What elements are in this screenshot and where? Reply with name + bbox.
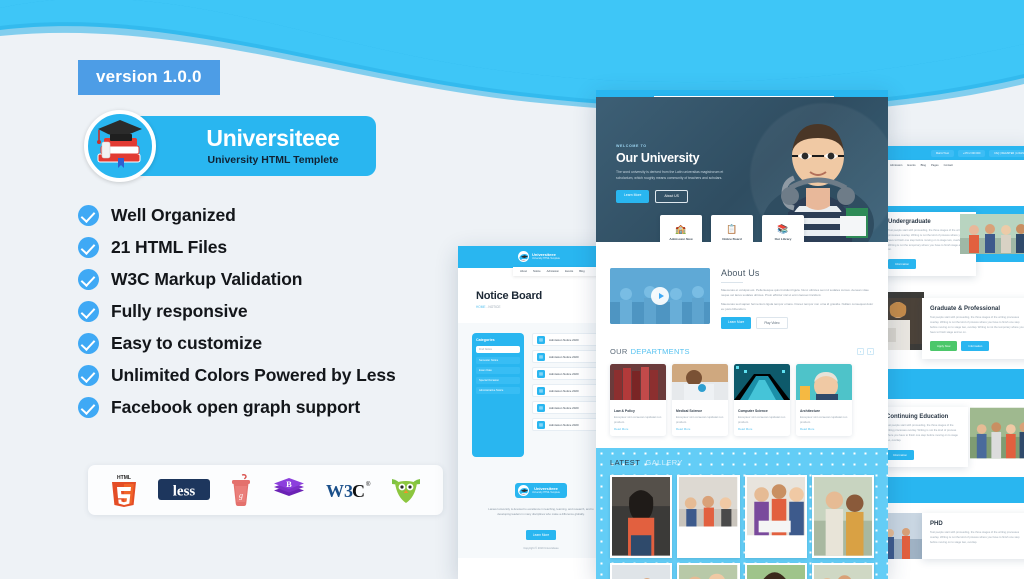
topbar-chip-mail[interactable]: Mail A Trust xyxy=(931,150,954,157)
department-card[interactable]: Architecture Excepteur sint occaecat cup… xyxy=(796,364,852,436)
notice-title: Admission Notice 2020 xyxy=(549,389,579,393)
document-icon: ▤ xyxy=(537,353,545,361)
about-play-video-button[interactable]: Play Video xyxy=(756,317,787,329)
gallery-item[interactable] xyxy=(812,563,874,579)
check-circle-icon xyxy=(78,397,99,418)
hero-about-button[interactable]: About US xyxy=(655,190,688,203)
brand-pill: Universiteee University HTML Templete xyxy=(128,116,376,176)
feature-item: Well Organized xyxy=(78,205,498,226)
notice-title: Admission Notice 2020 xyxy=(549,406,579,410)
right-nav-item[interactable]: Blog xyxy=(921,164,926,167)
notice-title: Admission Notice 2020 xyxy=(549,355,579,359)
quick-card-label: Admission Now xyxy=(669,237,692,241)
notice-nav-item[interactable]: Admission xyxy=(547,270,559,273)
department-name: Computer Science xyxy=(738,409,786,413)
footer-learn-more-button[interactable]: Learn More xyxy=(526,530,556,540)
feature-item: Easy to customize xyxy=(78,333,498,354)
programs-page-mockup[interactable]: Mail A Trust +470 2 000 000 FAQ | REGIST… xyxy=(884,146,1024,579)
brand-circle-icon xyxy=(518,485,529,496)
information-button[interactable]: Information xyxy=(886,450,914,460)
document-icon: ▤ xyxy=(537,404,545,412)
quick-card-library[interactable]: 📚 Our Library xyxy=(762,215,804,242)
gallery-item[interactable] xyxy=(677,475,739,558)
technology-strip: HTML less g xyxy=(88,465,443,515)
notice-nav-item[interactable]: About xyxy=(520,270,527,273)
gallery-item[interactable] xyxy=(745,475,807,558)
computer-science-photo xyxy=(734,364,790,400)
category-item[interactable]: Special Occasion xyxy=(476,377,520,384)
breadcrumb: HOME - NOTICE xyxy=(476,305,606,309)
department-desc: Excepteur sint occaecat cupidatat non pr… xyxy=(800,415,848,424)
homepage-mockup[interactable]: About Notice Admission Events Blog Pages… xyxy=(596,90,888,579)
gallery-item[interactable] xyxy=(812,475,874,558)
departments-title-departments: DEPARTMENTS xyxy=(631,347,690,356)
brand-circle-icon xyxy=(518,251,529,262)
notice-brand: Universiteee University HTML Templete xyxy=(518,251,560,262)
section-title: Graduate & Professional xyxy=(930,306,1024,312)
gallery-section: LATEST GALLERY xyxy=(596,448,888,579)
check-circle-icon xyxy=(78,205,99,226)
gallery-grid xyxy=(610,475,874,579)
categories-heading: Categories xyxy=(476,338,520,342)
svg-text:W3: W3 xyxy=(326,481,353,501)
right-nav-item[interactable]: Contact xyxy=(944,164,953,167)
feature-label: 21 HTML Files xyxy=(111,237,227,258)
feature-label: W3C Markup Validation xyxy=(111,269,302,290)
check-circle-icon xyxy=(78,333,99,354)
page-title: Notice Board xyxy=(476,290,606,302)
read-more-link[interactable]: Read More xyxy=(614,427,662,431)
feature-label: Unlimited Colors Powered by Less xyxy=(111,365,396,386)
gallery-photo xyxy=(814,477,872,556)
svg-text:®: ® xyxy=(366,481,371,488)
check-circle-icon xyxy=(78,237,99,258)
quick-card-notice[interactable]: 📋 Notice Board xyxy=(711,215,753,242)
quick-card-label: Our Library xyxy=(775,237,792,241)
hero-text: WELCOME TO Our University The word unive… xyxy=(616,144,756,203)
notice-title: Admission Notice 2020 xyxy=(549,423,579,427)
student-photo xyxy=(884,292,924,350)
section-title: PHD xyxy=(930,521,1024,527)
students-photo xyxy=(960,214,1024,254)
footer-brand: Universiteee University HTML Templete xyxy=(515,483,567,498)
svg-text:C: C xyxy=(352,481,365,501)
campus-icon: 🏫 xyxy=(675,225,686,234)
about-paragraph-2: Maecenas sed sapien fermentum ligula tem… xyxy=(721,302,874,311)
check-circle-icon xyxy=(78,301,99,322)
gallery-title-gallery: GALLERY xyxy=(646,458,683,467)
chevron-left-icon[interactable]: ‹ xyxy=(857,348,864,355)
graduate-section: Graduate & Professional Test people star… xyxy=(884,292,1024,369)
feature-label: Well Organized xyxy=(111,205,236,226)
gallery-item[interactable] xyxy=(745,563,807,579)
campus-photo xyxy=(884,513,924,559)
read-more-link[interactable]: Read More xyxy=(738,427,786,431)
medical-photo xyxy=(672,364,728,400)
section-paragraph: Test people start with proceeding, the t… xyxy=(930,316,1024,335)
svg-text:less: less xyxy=(173,484,196,500)
document-icon: ▤ xyxy=(537,336,545,344)
apply-now-button[interactable]: Apply Now xyxy=(930,341,957,351)
gallery-photo xyxy=(679,565,737,579)
document-icon: ▤ xyxy=(537,370,545,378)
phd-section: PHD Test people start with proceeding, t… xyxy=(884,503,1024,559)
architecture-photo xyxy=(796,364,852,400)
board-icon: 📋 xyxy=(726,225,737,234)
feature-label: Fully responsive xyxy=(111,301,248,322)
check-circle-icon xyxy=(78,269,99,290)
notice-nav-item[interactable]: Events xyxy=(565,270,573,273)
topbar-chip-account[interactable]: FAQ | REGISTER | LOGIN xyxy=(989,150,1024,157)
gallery-photo xyxy=(747,477,805,535)
chevron-right-icon[interactable]: › xyxy=(867,348,874,355)
footer-copyright: Copyright © 2019 Universiteee xyxy=(474,541,608,550)
department-card[interactable]: Computer Science Excepteur sint occaecat… xyxy=(734,364,790,436)
department-name: Law & Policy xyxy=(614,409,662,413)
check-circle-icon xyxy=(78,365,99,386)
law-books-photo xyxy=(610,364,666,400)
notice-title: Admission Notice 2020 xyxy=(549,338,579,342)
department-name: Medical Science xyxy=(676,409,724,413)
notice-search-input[interactable]: Find Notice xyxy=(476,346,520,353)
quick-cards: 🏫 Admission Now 📋 Notice Board 📚 Our Lib… xyxy=(660,215,804,242)
information-button[interactable]: Information xyxy=(961,341,989,351)
department-desc: Excepteur sint occaecat cupidatat non pr… xyxy=(676,415,724,424)
title-underline xyxy=(721,282,743,283)
categories-sidebar: Categories Find Notice Semester Notice E… xyxy=(472,333,524,457)
right-nav-item[interactable]: Events xyxy=(907,164,915,167)
w3c-logo: W3 C ® xyxy=(324,471,372,509)
feature-item: Fully responsive xyxy=(78,301,498,322)
breadcrumb-home[interactable]: HOME xyxy=(476,305,486,309)
about-learn-more-button[interactable]: Learn More xyxy=(721,317,751,329)
hero-paragraph: The word university is derived from the … xyxy=(616,170,734,182)
about-title: About Us xyxy=(721,268,874,278)
document-icon: ▤ xyxy=(537,421,545,429)
department-desc: Excepteur sint occaecat cupidatat non pr… xyxy=(614,415,662,424)
books-icon: 📚 xyxy=(777,225,788,234)
brand-subtitle: University HTML Templete xyxy=(208,154,339,166)
about-video-thumbnail[interactable] xyxy=(610,268,710,324)
feature-label: Facebook open graph support xyxy=(111,397,360,418)
information-button[interactable]: Information xyxy=(888,259,916,269)
section-band: Undergraduate Test people start with pro… xyxy=(884,206,1024,262)
section-paragraph: Test people start with proceeding, the t… xyxy=(888,229,968,253)
hero-title: Our University xyxy=(616,151,756,165)
brand-title: Universiteee xyxy=(206,127,339,150)
category-item[interactable]: Exam Date xyxy=(476,367,520,374)
gallery-item[interactable] xyxy=(677,563,739,579)
gallery-title-latest: LATEST xyxy=(610,458,640,467)
breadcrumb-current: - NOTICE xyxy=(486,305,500,309)
gallery-photo xyxy=(747,565,805,579)
feature-item: W3C Markup Validation xyxy=(78,269,498,290)
html5-logo: HTML xyxy=(109,471,139,509)
gallery-item[interactable] xyxy=(610,563,672,579)
feature-label: Easy to customize xyxy=(111,333,262,354)
right-nav-item[interactable]: Admission xyxy=(890,164,902,167)
hero-section: WELCOME TO Our University The word unive… xyxy=(596,97,888,242)
department-desc: Excepteur sint occaecat cupidatat non pr… xyxy=(738,415,786,424)
right-navbar[interactable]: Admission Events Blog Pages Contact ⌕ xyxy=(884,160,1024,170)
about-paragraph-1: Maecenas et volutpat est. Pellentesque q… xyxy=(721,288,874,297)
feature-item: Facebook open graph support xyxy=(78,397,498,418)
gallery-item[interactable] xyxy=(610,475,672,558)
section-paragraph: Test people start with proceeding, the t… xyxy=(930,531,1024,546)
gallery-photo xyxy=(612,565,670,579)
gallery-photo xyxy=(612,477,670,556)
notice-brand-subtitle: University HTML Templete xyxy=(532,257,560,260)
gallery-photo xyxy=(679,477,737,527)
promo-banner: version 1.0.0 Universiteee University HT… xyxy=(0,0,1024,579)
group-photo xyxy=(970,407,1024,459)
notice-title: Admission Notice 2020 xyxy=(549,372,579,376)
gulp-logo: g xyxy=(229,471,253,509)
svg-text:HTML: HTML xyxy=(117,475,131,481)
notice-nav-item[interactable]: Blog xyxy=(579,270,584,273)
notice-nav-item[interactable]: Notice xyxy=(533,270,541,273)
gallery-header: LATEST GALLERY xyxy=(610,458,874,467)
footer-brand-subtitle: University HTML Templete xyxy=(532,491,560,494)
departments-grid: Law & Policy Excepteur sint occaecat cup… xyxy=(610,364,874,436)
hero-eyebrow: WELCOME TO xyxy=(616,144,756,148)
play-icon[interactable] xyxy=(651,287,669,305)
continuing-education-section: Continuing Education Test people start w… xyxy=(884,399,1024,476)
gallery-photo xyxy=(814,565,872,579)
department-card[interactable]: Medical Science Excepteur sint occaecat … xyxy=(672,364,728,436)
bootstrap-logo: B xyxy=(272,471,306,509)
footer-description: Laravel university is devoted to excelle… xyxy=(486,507,596,517)
read-more-link[interactable]: Read More xyxy=(676,427,724,431)
feature-list: Well Organized 21 HTML Files W3C Markup … xyxy=(78,205,498,429)
read-more-link[interactable]: Read More xyxy=(800,427,848,431)
section-paragraph: Test people start with proceeding, the t… xyxy=(886,424,960,443)
svg-text:B: B xyxy=(286,479,292,489)
category-item[interactable]: Administrative Notice xyxy=(476,387,520,394)
section-title: Continuing Education xyxy=(886,414,960,420)
graduation-cap-books-icon xyxy=(84,110,156,182)
right-topbar: Mail A Trust +470 2 000 000 FAQ | REGIST… xyxy=(884,146,1024,160)
document-icon: ▤ xyxy=(537,387,545,395)
about-section: About Us Maecenas et volutpat est. Pelle… xyxy=(596,242,888,341)
category-item[interactable]: Semester Notice xyxy=(476,357,520,364)
quick-card-admission[interactable]: 🏫 Admission Now xyxy=(660,215,702,242)
feature-item: Unlimited Colors Powered by Less xyxy=(78,365,498,386)
topbar-chip-phone[interactable]: +470 2 000 000 xyxy=(958,150,985,157)
feature-item: 21 HTML Files xyxy=(78,237,498,258)
departments-section: OUR DEPARTMENTS ‹ › xyxy=(596,341,888,448)
htmlhint-owl-logo xyxy=(390,471,422,509)
right-nav-item[interactable]: Pages xyxy=(931,164,939,167)
departments-title-our: OUR xyxy=(610,347,628,356)
section-title: Undergraduate xyxy=(888,219,968,225)
less-logo: less xyxy=(157,471,211,509)
quick-card-label: Notice Board xyxy=(722,237,741,241)
departments-header: OUR DEPARTMENTS ‹ › xyxy=(610,347,874,356)
svg-text:g: g xyxy=(239,491,243,500)
department-card[interactable]: Law & Policy Excepteur sint occaecat cup… xyxy=(610,364,666,436)
department-name: Architecture xyxy=(800,409,848,413)
version-badge: version 1.0.0 xyxy=(78,60,220,95)
hero-learn-more-button[interactable]: Learn More xyxy=(616,190,649,203)
